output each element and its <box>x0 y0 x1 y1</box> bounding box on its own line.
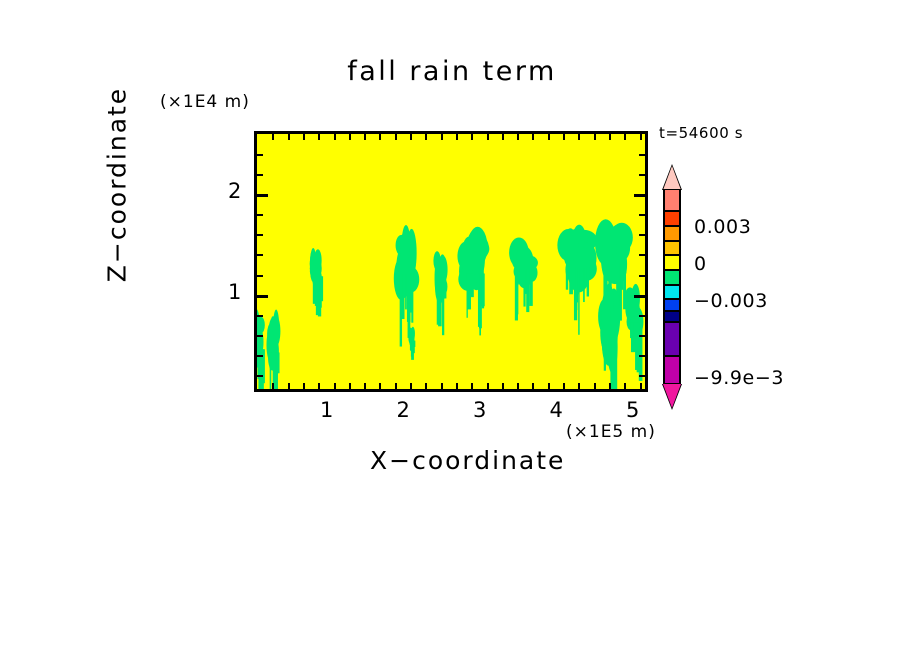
x-tick-label: 4 <box>550 398 563 422</box>
feature-cell-2 <box>310 248 323 316</box>
y-minor-tick <box>257 174 263 176</box>
colorbar-band-purple <box>663 322 681 356</box>
y-axis-unit-label: (×1E4 m) <box>160 92 250 112</box>
x-minor-tick <box>349 383 351 389</box>
x-minor-tick <box>395 383 397 389</box>
x-minor-tick-top <box>395 134 397 140</box>
colorbar-band-amber <box>663 241 681 256</box>
y-minor-tick-right <box>639 254 645 256</box>
x-minor-tick <box>624 383 626 389</box>
page-title: fall rain term <box>0 56 904 87</box>
x-minor-tick-top <box>532 134 534 140</box>
x-minor-tick <box>425 383 427 389</box>
x-minor-tick-top <box>364 134 366 140</box>
feature-cell-4 <box>433 251 447 335</box>
x-minor-tick-top <box>471 134 473 140</box>
x-tick-label: 1 <box>320 398 333 422</box>
y-minor-tick <box>257 275 263 277</box>
x-minor-tick <box>640 383 642 389</box>
colorbar-band-navy <box>663 311 681 322</box>
x-minor-tick-top <box>303 134 305 140</box>
feature-streak-right <box>598 283 620 391</box>
x-tick-label: 2 <box>396 398 409 422</box>
x-minor-tick <box>288 383 290 389</box>
y-axis-title: Z−coordinate <box>103 60 132 310</box>
colorbar-band-orange-red <box>663 211 681 226</box>
feature-cell-6 <box>509 237 538 320</box>
colorbar <box>663 189 681 384</box>
plot-area <box>254 131 648 392</box>
x-minor-tick <box>487 383 489 389</box>
y-major-tick-right <box>634 295 645 298</box>
y-minor-tick-right <box>639 174 645 176</box>
x-minor-tick-top <box>288 134 290 140</box>
colorbar-band-blue <box>663 299 681 311</box>
feature-cell-5 <box>457 227 489 336</box>
x-minor-tick-top <box>548 134 550 140</box>
y-tick-label: 1 <box>228 280 241 304</box>
y-tick-label: 2 <box>228 179 241 203</box>
y-minor-tick-right <box>639 315 645 317</box>
y-minor-tick <box>257 154 263 156</box>
x-minor-tick-top <box>517 134 519 140</box>
x-minor-tick-top <box>640 134 642 140</box>
x-minor-tick-top <box>609 134 611 140</box>
y-minor-tick-right <box>639 234 645 236</box>
colorbar-top-arrow <box>663 166 681 190</box>
y-minor-tick-right <box>639 375 645 377</box>
x-minor-tick <box>471 383 473 389</box>
x-minor-tick <box>364 383 366 389</box>
y-minor-tick <box>257 234 263 236</box>
y-major-tick <box>257 295 268 298</box>
x-minor-tick-top <box>318 134 320 140</box>
x-minor-tick <box>441 383 443 389</box>
x-axis-title: X−coordinate <box>370 446 565 475</box>
colorbar-tick-label: −9.9e−3 <box>694 367 784 389</box>
x-minor-tick-top <box>272 134 274 140</box>
x-minor-tick <box>303 383 305 389</box>
x-minor-tick <box>609 383 611 389</box>
x-minor-tick-top <box>379 134 381 140</box>
feature-cell-3b <box>408 327 415 360</box>
heatmap-field <box>257 134 645 391</box>
x-minor-tick-top <box>349 134 351 140</box>
y-minor-tick-right <box>639 335 645 337</box>
colorbar-tick-label: 0.003 <box>694 216 751 238</box>
y-minor-tick <box>257 335 263 337</box>
x-minor-tick <box>594 383 596 389</box>
x-minor-tick-top <box>563 134 565 140</box>
x-minor-tick <box>410 383 412 389</box>
x-minor-tick-top <box>624 134 626 140</box>
y-minor-tick <box>257 254 263 256</box>
x-tick-label: 3 <box>473 398 486 422</box>
x-tick-label: 5 <box>626 398 639 422</box>
colorbar-band-orange <box>663 226 681 241</box>
feature-cell-7 <box>557 225 597 335</box>
y-minor-tick-right <box>639 154 645 156</box>
y-minor-tick-right <box>639 214 645 216</box>
y-minor-tick <box>257 375 263 377</box>
feature-cell-3 <box>394 225 419 347</box>
x-minor-tick <box>318 383 320 389</box>
x-minor-tick-top <box>334 134 336 140</box>
x-minor-tick-top <box>441 134 443 140</box>
x-minor-tick-top <box>425 134 427 140</box>
x-minor-tick <box>548 383 550 389</box>
x-minor-tick <box>578 383 580 389</box>
x-minor-tick <box>379 383 381 389</box>
colorbar-band-magenta <box>663 356 681 384</box>
x-minor-tick-top <box>578 134 580 140</box>
feature-cell-9 <box>624 284 644 381</box>
feature-cell-1 <box>266 309 280 391</box>
colorbar-band-salmon <box>663 189 681 211</box>
x-minor-tick-top <box>502 134 504 140</box>
x-minor-tick <box>532 383 534 389</box>
timestamp-label: t=54600 s <box>659 124 743 142</box>
x-minor-tick <box>272 383 274 389</box>
colorbar-tick-label: 0 <box>694 253 707 275</box>
x-minor-tick-top <box>487 134 489 140</box>
x-minor-tick-top <box>456 134 458 140</box>
x-minor-tick <box>334 383 336 389</box>
y-major-tick-right <box>634 194 645 197</box>
x-minor-tick <box>456 383 458 389</box>
feature-cell-edge-left <box>257 309 265 391</box>
x-minor-tick-top <box>410 134 412 140</box>
colorbar-bottom-arrow <box>663 384 681 408</box>
x-minor-tick-top <box>594 134 596 140</box>
y-minor-tick-right <box>639 275 645 277</box>
y-major-tick <box>257 194 268 197</box>
y-minor-tick-right <box>639 355 645 357</box>
colorbar-band-yellow <box>663 255 681 270</box>
x-minor-tick <box>517 383 519 389</box>
x-minor-tick <box>502 383 504 389</box>
y-minor-tick <box>257 355 263 357</box>
x-minor-tick <box>563 383 565 389</box>
colorbar-tick-label: −0.003 <box>694 290 768 312</box>
colorbar-band-green <box>663 270 681 285</box>
y-minor-tick <box>257 214 263 216</box>
x-axis-unit-label: (×1E5 m) <box>566 422 656 442</box>
y-minor-tick <box>257 315 263 317</box>
colorbar-band-cyan <box>663 285 681 300</box>
